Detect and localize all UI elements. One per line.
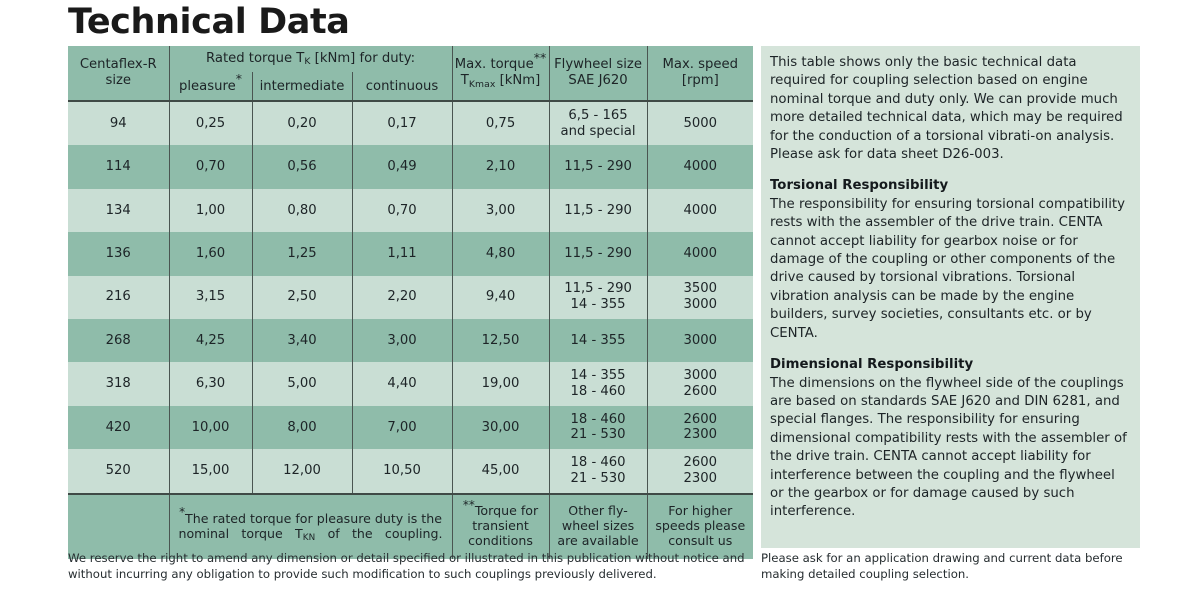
side-dimensional-heading: Dimensional Responsibility: [770, 356, 1128, 374]
side-notes-inner: This table shows only the basic technica…: [761, 46, 1140, 530]
table-body: 940,250,200,170,756,5 - 165and special50…: [68, 101, 753, 494]
column-header-duty-continuous: continuous: [352, 72, 452, 101]
table-header: Centaflex-R size Rated torque TK [kNm] f…: [68, 46, 753, 101]
cell-max-speed: 26002300: [647, 406, 753, 449]
cell-flywheel: 11,5 - 290: [549, 232, 647, 275]
cell-max-speed: 5000: [647, 101, 753, 145]
max-speed-line1: Max. speed: [648, 57, 754, 73]
cell-size: 420: [68, 406, 169, 449]
flywheel-line2: SAE J620: [550, 73, 647, 89]
cell-max-torque: 2,10: [452, 145, 549, 188]
cell-intermediate: 8,00: [252, 406, 352, 449]
duty-pleasure-footnote-marker: *: [236, 71, 242, 86]
cell-flywheel: 18 - 46021 - 530: [549, 449, 647, 493]
technical-data-table-container: Centaflex-R size Rated torque TK [kNm] f…: [68, 46, 753, 548]
column-header-duty-intermediate: intermediate: [252, 72, 352, 101]
duty-pleasure-label: pleasure: [179, 79, 236, 94]
cell-intermediate: 1,25: [252, 232, 352, 275]
disclaimer-right: Please ask for an application drawing an…: [761, 551, 1151, 582]
footnote-row: *The rated torque for pleasure duty is t…: [68, 494, 753, 559]
footnote-marker-max-torque: **: [463, 498, 475, 512]
cell-intermediate: 0,56: [252, 145, 352, 188]
cell-intermediate: 0,80: [252, 189, 352, 232]
cell-size: 216: [68, 276, 169, 319]
cell-size: 268: [68, 319, 169, 362]
table-row: 3186,305,004,4019,0014 - 35518 - 4603000…: [68, 362, 753, 405]
cell-max-torque: 30,00: [452, 406, 549, 449]
footnote-max-torque: **Torque for transient conditions: [452, 494, 549, 559]
technical-data-page: Technical Data Centaflex-R size Rated to…: [0, 0, 1188, 607]
cell-size: 134: [68, 189, 169, 232]
cell-max-torque: 19,00: [452, 362, 549, 405]
cell-pleasure: 3,15: [169, 276, 252, 319]
cell-intermediate: 0,20: [252, 101, 352, 145]
cell-pleasure: 0,70: [169, 145, 252, 188]
cell-intermediate: 5,00: [252, 362, 352, 405]
max-speed-line2: [rpm]: [648, 73, 754, 89]
cell-continuous: 10,50: [352, 449, 452, 493]
cell-max-torque: 0,75: [452, 101, 549, 145]
cell-max-speed: 4000: [647, 232, 753, 275]
cell-continuous: 2,20: [352, 276, 452, 319]
cell-max-torque: 12,50: [452, 319, 549, 362]
cell-max-speed: 4000: [647, 145, 753, 188]
column-header-duty-pleasure: pleasure*: [169, 72, 252, 101]
cell-pleasure: 6,30: [169, 362, 252, 405]
footnote-cell-empty: [68, 494, 169, 559]
column-header-max-torque: Max. torque** TKmax [kNm]: [452, 46, 549, 101]
table-row: 1341,000,800,703,0011,5 - 2904000: [68, 189, 753, 232]
max-torque-subscript: Kmax: [469, 79, 496, 90]
table-row: 1361,601,251,114,8011,5 - 2904000: [68, 232, 753, 275]
table-row: 2684,253,403,0012,5014 - 3553000: [68, 319, 753, 362]
cell-max-speed: 35003000: [647, 276, 753, 319]
max-torque-symbol: T: [461, 73, 469, 88]
table-row: 940,250,200,170,756,5 - 165and special50…: [68, 101, 753, 145]
cell-size: 520: [68, 449, 169, 493]
max-torque-line1: Max. torque**: [453, 57, 549, 73]
cell-continuous: 3,00: [352, 319, 452, 362]
table-row: 42010,008,007,0030,0018 - 46021 - 530260…: [68, 406, 753, 449]
cell-pleasure: 4,25: [169, 319, 252, 362]
cell-flywheel: 18 - 46021 - 530: [549, 406, 647, 449]
side-torsional-body: The responsibility for ensuring torsiona…: [770, 196, 1128, 343]
column-header-size-line2: size: [68, 73, 169, 89]
max-torque-unit: [kNm]: [495, 73, 540, 88]
cell-intermediate: 3,40: [252, 319, 352, 362]
table-row: 52015,0012,0010,5045,0018 - 46021 - 5302…: [68, 449, 753, 493]
cell-max-torque: 9,40: [452, 276, 549, 319]
cell-pleasure: 15,00: [169, 449, 252, 493]
disclaimer-left: We reserve the right to amend any dimens…: [68, 551, 758, 582]
cell-max-torque: 45,00: [452, 449, 549, 493]
max-torque-footnote-marker: **: [534, 50, 547, 65]
cell-flywheel: 14 - 355: [549, 319, 647, 362]
technical-data-table: Centaflex-R size Rated torque TK [kNm] f…: [68, 46, 753, 559]
cell-pleasure: 1,60: [169, 232, 252, 275]
cell-flywheel: 11,5 - 290: [549, 189, 647, 232]
cell-flywheel: 14 - 35518 - 460: [549, 362, 647, 405]
column-header-size: Centaflex-R size: [68, 46, 169, 101]
footnote-rated-subscript: KN: [303, 533, 316, 543]
cell-max-speed: 4000: [647, 189, 753, 232]
cell-size: 94: [68, 101, 169, 145]
cell-continuous: 4,40: [352, 362, 452, 405]
footnote-marker-rated: *: [179, 505, 185, 519]
cell-size: 318: [68, 362, 169, 405]
side-notes-panel: This table shows only the basic technica…: [761, 46, 1140, 548]
flywheel-line1: Flywheel size: [550, 57, 647, 73]
cell-max-speed: 30002600: [647, 362, 753, 405]
footnote-speed-text: For higherspeeds pleaseconsult us: [647, 494, 753, 559]
cell-pleasure: 1,00: [169, 189, 252, 232]
max-torque-label: Max. torque: [455, 57, 534, 72]
cell-max-torque: 4,80: [452, 232, 549, 275]
rated-torque-subscript: K: [304, 56, 310, 67]
column-header-flywheel-size: Flywheel size SAE J620: [549, 46, 647, 101]
max-torque-line2: TKmax [kNm]: [453, 73, 549, 89]
column-header-max-speed: Max. speed [rpm]: [647, 46, 753, 101]
cell-intermediate: 2,50: [252, 276, 352, 319]
table-footnote-row: *The rated torque for pleasure duty is t…: [68, 494, 753, 559]
rated-torque-label: Rated torque T: [206, 51, 304, 66]
cell-continuous: 7,00: [352, 406, 452, 449]
table-row: 2163,152,502,209,4011,5 - 29014 - 355350…: [68, 276, 753, 319]
rated-torque-units: [kNm] for duty:: [310, 51, 415, 66]
footnote-rated-torque: *The rated torque for pleasure duty is t…: [169, 494, 452, 559]
side-torsional-heading: Torsional Responsibility: [770, 177, 1128, 195]
cell-size: 136: [68, 232, 169, 275]
cell-pleasure: 0,25: [169, 101, 252, 145]
cell-continuous: 0,49: [352, 145, 452, 188]
column-header-rated-torque-group: Rated torque TK [kNm] for duty:: [169, 46, 452, 72]
cell-max-speed: 3000: [647, 319, 753, 362]
footnote-max-torque-text: Torque for transient conditions: [468, 503, 538, 548]
cell-max-torque: 3,00: [452, 189, 549, 232]
side-intro-paragraph: This table shows only the basic technica…: [770, 54, 1128, 164]
cell-max-speed: 26002300: [647, 449, 753, 493]
cell-flywheel: 11,5 - 290: [549, 145, 647, 188]
cell-pleasure: 10,00: [169, 406, 252, 449]
page-title: Technical Data: [68, 2, 350, 42]
cell-continuous: 0,70: [352, 189, 452, 232]
cell-intermediate: 12,00: [252, 449, 352, 493]
side-dimensional-body: The dimensions on the flywheel side of t…: [770, 375, 1128, 522]
cell-flywheel: 6,5 - 165and special: [549, 101, 647, 145]
footnote-flywheel-text: Other fly-wheel sizesare available: [549, 494, 647, 559]
table-header-row-top: Centaflex-R size Rated torque TK [kNm] f…: [68, 46, 753, 72]
column-header-size-line1: Centaflex-R: [68, 57, 169, 73]
cell-size: 114: [68, 145, 169, 188]
footnote-rated-text-b: of the coupling.: [315, 526, 442, 541]
table-row: 1140,700,560,492,1011,5 - 2904000: [68, 145, 753, 188]
cell-continuous: 0,17: [352, 101, 452, 145]
cell-flywheel: 11,5 - 29014 - 355: [549, 276, 647, 319]
cell-continuous: 1,11: [352, 232, 452, 275]
